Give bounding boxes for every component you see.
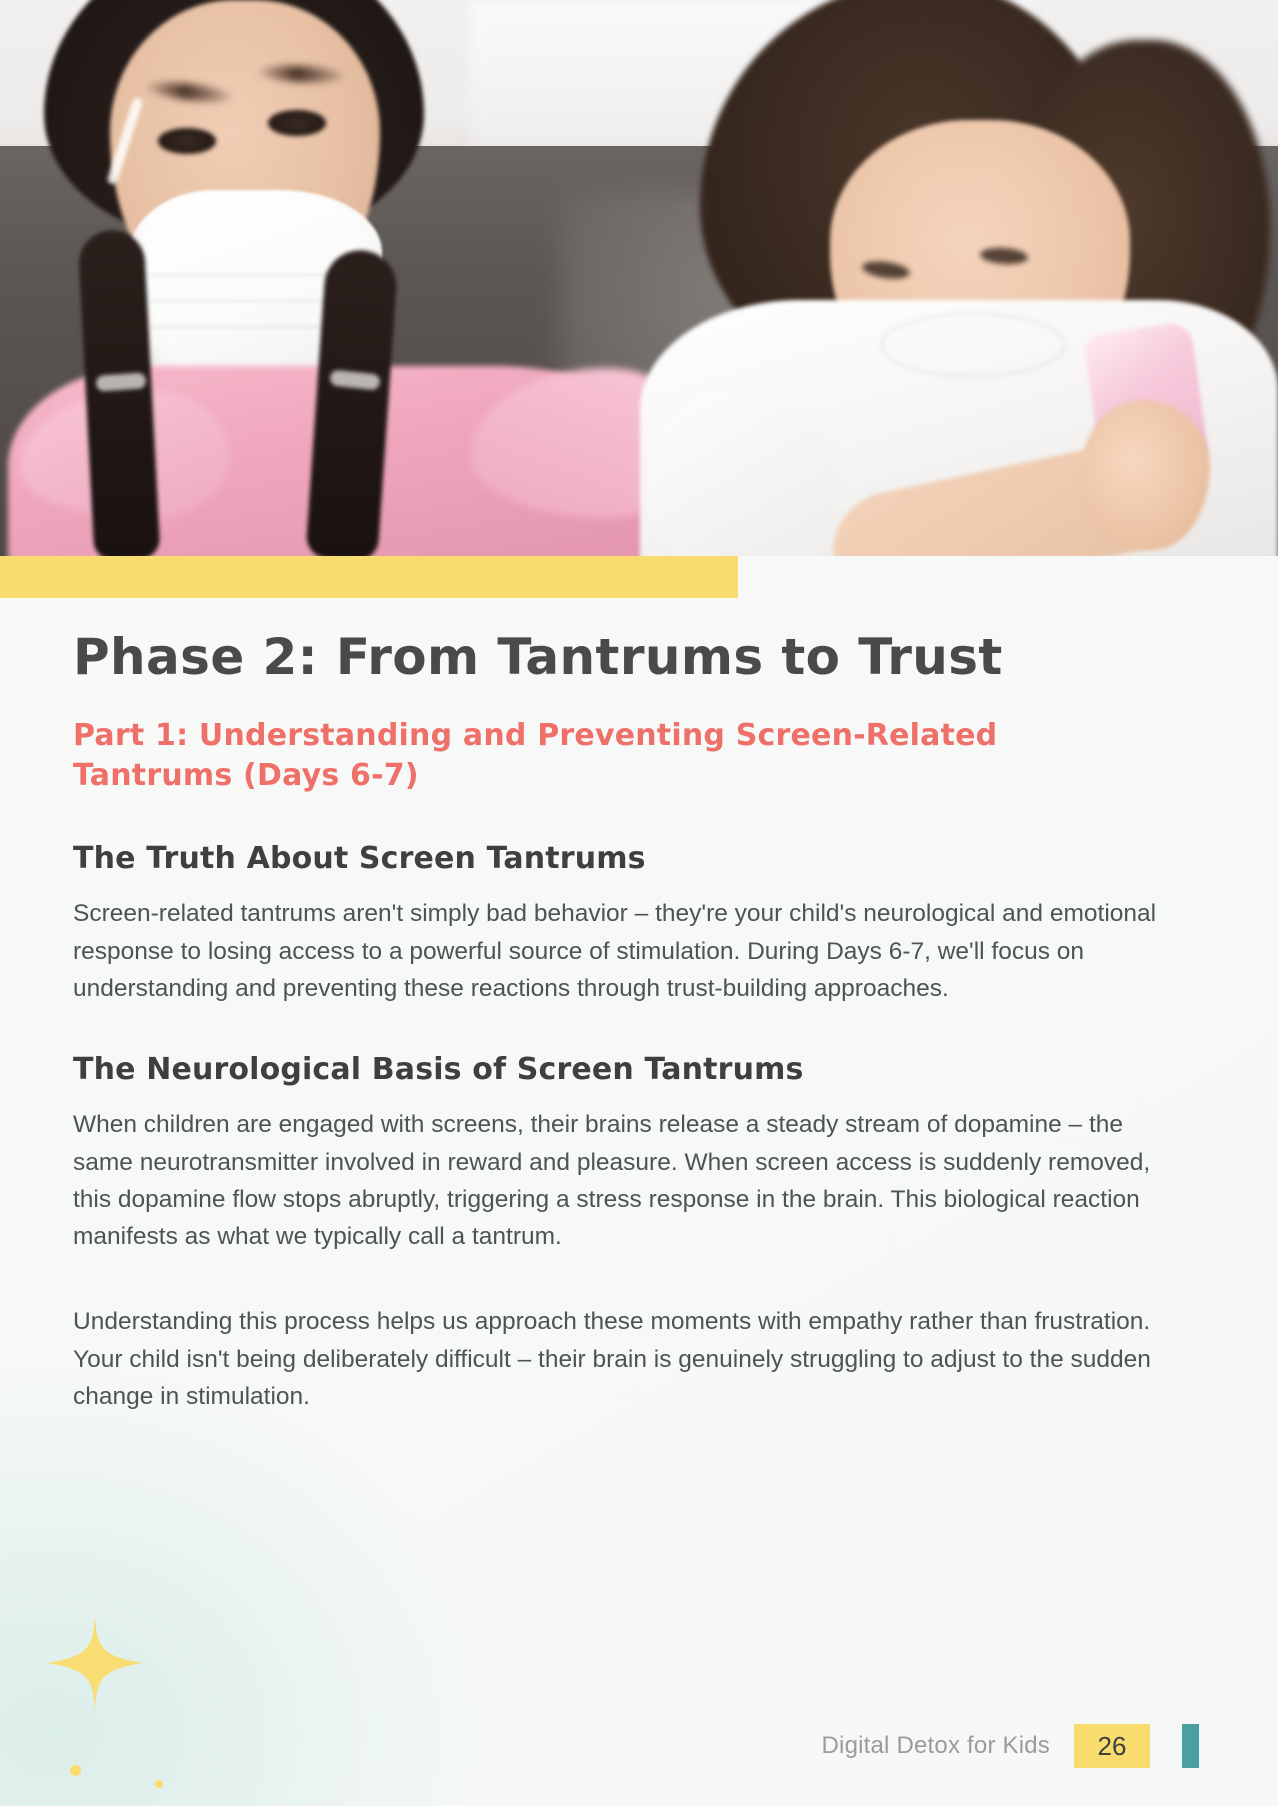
footer-content: Digital Detox for Kids 26 — [822, 1724, 1200, 1768]
photo-shirt-collar — [880, 312, 1066, 378]
photo-child-left-eye — [268, 110, 326, 136]
footer-book-title: Digital Detox for Kids — [822, 1732, 1051, 1760]
page-content: Phase 2: From Tantrums to Trust Part 1: … — [73, 628, 1193, 1415]
section-heading-neurological-basis: The Neurological Basis of Screen Tantrum… — [73, 1051, 1193, 1089]
footer-teal-tick — [1182, 1724, 1199, 1768]
section-paragraph: Screen-related tantrums aren't simply ba… — [73, 895, 1171, 1007]
document-page: Phase 2: From Tantrums to Trust Part 1: … — [0, 0, 1278, 1806]
page-footer: Digital Detox for Kids 26 — [0, 1686, 1278, 1806]
section-paragraph: Understanding this process helps us appr… — [73, 1303, 1171, 1415]
page-number-badge: 26 — [1074, 1724, 1150, 1768]
hero-photo — [0, 0, 1278, 556]
section-paragraph: When children are engaged with screens, … — [73, 1106, 1171, 1255]
page-title: Phase 2: From Tantrums to Trust — [73, 628, 1193, 686]
photo-background — [0, 0, 1278, 556]
photo-child-left-eye — [158, 128, 216, 154]
part-heading: Part 1: Understanding and Preventing Scr… — [73, 716, 1073, 796]
yellow-accent-bar — [0, 556, 738, 598]
photo-shirt-sleeve — [648, 392, 838, 556]
section-heading-truth-about-screen-tantrums: The Truth About Screen Tantrums — [73, 840, 1193, 878]
